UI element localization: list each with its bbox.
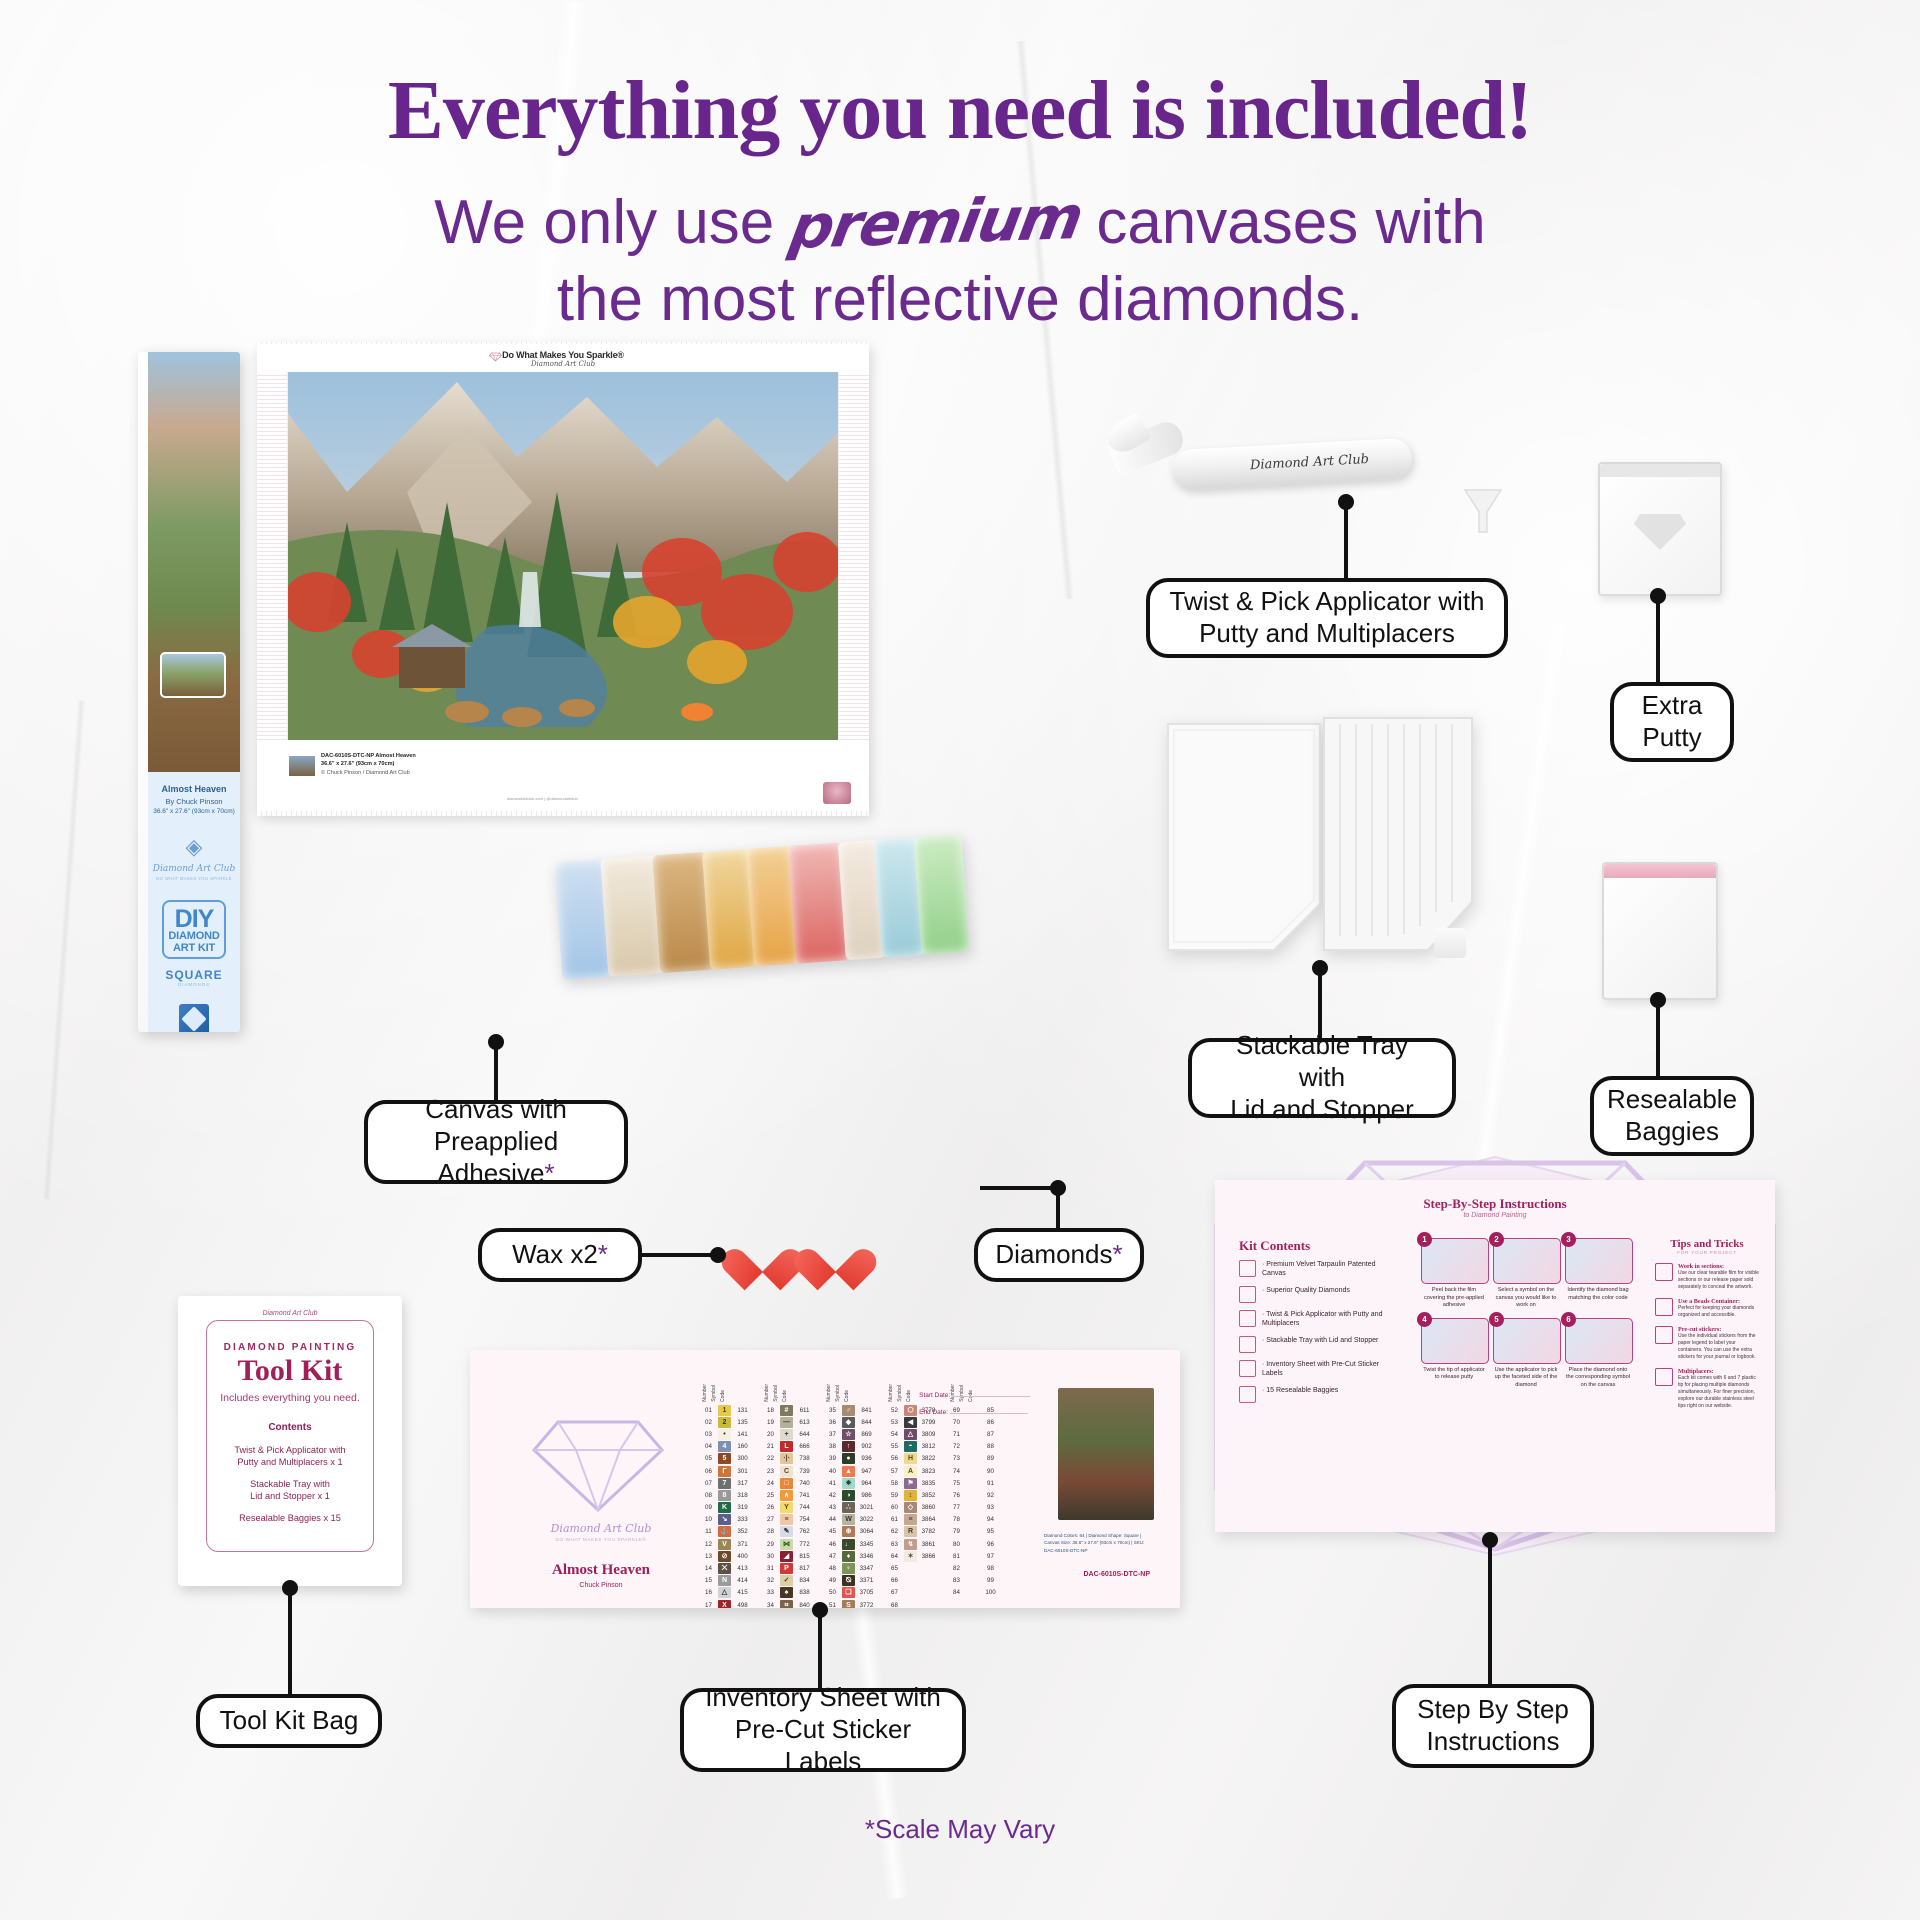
inventory-row: 29⋈772	[764, 1538, 813, 1550]
inventory-symbol-swatch[interactable]: ⌗	[780, 1600, 793, 1608]
inventory-number: 46	[826, 1541, 839, 1548]
inventory-symbol-swatch[interactable]	[966, 1466, 979, 1477]
inventory-header-cell: Code	[782, 1390, 788, 1402]
kit-item-label: · Inventory Sheet with Pre-Cut Sticker L…	[1262, 1360, 1399, 1379]
inventory-number: 31	[764, 1565, 777, 1572]
tool-kit-tagline: Includes everything you need.	[178, 1392, 402, 1404]
inventory-row: 8298	[950, 1562, 999, 1574]
inventory-row: 044160	[702, 1441, 751, 1453]
inventory-row: 11⚓352	[702, 1526, 751, 1538]
callout-dot	[1312, 960, 1328, 976]
callout-inventory-line2: Pre-Cut Sticker Labels	[702, 1714, 944, 1777]
inventory-row: 36◆844	[826, 1416, 875, 1428]
callout-inventory-sheet[interactable]: Inventory Sheet with Pre-Cut Sticker Lab…	[680, 1688, 966, 1772]
canvas-footer: DAC-6010S-DTC-NP Almost Heaven 36.6" x 2…	[257, 740, 869, 814]
inventory-row: 7793	[950, 1502, 999, 1514]
callout-leader	[818, 1608, 822, 1692]
inventory-symbol-swatch[interactable]: △	[904, 1429, 917, 1440]
inventory-number: 30	[764, 1553, 777, 1560]
inventory-row: 64✶3866	[888, 1550, 937, 1562]
inventory-number: 06	[702, 1468, 715, 1475]
step-text: Place the diamond onto the corresponding…	[1565, 1367, 1631, 1390]
tip-icon	[1655, 1263, 1673, 1281]
tip-item: Work in sections:Use our clear tearable …	[1655, 1263, 1759, 1291]
inventory-code: 3022	[858, 1516, 875, 1523]
inventory-row: 35♂841	[826, 1404, 875, 1416]
tips-section: Tips and Tricks FOR YOUR PROJECT Work in…	[1655, 1238, 1759, 1417]
inventory-number: 03	[702, 1431, 715, 1438]
callout-dot	[1050, 1180, 1066, 1196]
inventory-code: 90	[982, 1468, 999, 1475]
inventory-row: 011131	[702, 1404, 751, 1416]
inventory-row: 49⦰3371	[826, 1575, 875, 1587]
inventory-row: 18#611	[764, 1404, 813, 1416]
inventory-symbol-swatch[interactable]: ◇	[904, 1502, 917, 1513]
inventory-symbol-swatch[interactable]	[966, 1502, 979, 1513]
inventory-symbol-swatch[interactable]: W	[842, 1514, 855, 1525]
inventory-symbol-swatch[interactable]	[904, 1600, 917, 1608]
inventory-number: 56	[888, 1455, 901, 1462]
tip-title: Multiplacers:	[1678, 1368, 1759, 1375]
inventory-symbol-swatch[interactable]	[966, 1453, 979, 1464]
inventory-code: 3064	[858, 1528, 875, 1535]
infographic-canvas: Everything you need is included! We only…	[0, 0, 1920, 1920]
inventory-row: 61≡3864	[888, 1514, 937, 1526]
inventory-symbol-swatch[interactable]: ⚓	[718, 1526, 731, 1537]
inventory-row: 28✎762	[764, 1526, 813, 1538]
inventory-row: 20+644	[764, 1428, 813, 1440]
inventory-code: 3371	[858, 1577, 875, 1584]
inventory-number: 81	[950, 1553, 963, 1560]
callout-applicator-line2: Putty and Multiplacers	[1199, 618, 1455, 650]
inventory-symbol-swatch[interactable]: H	[904, 1453, 917, 1464]
canvas-artwork	[287, 372, 839, 740]
inventory-number: 14	[702, 1565, 715, 1572]
inventory-number: 42	[826, 1492, 839, 1499]
step-number: 3	[1561, 1232, 1576, 1247]
inventory-number: 34	[764, 1602, 777, 1608]
box-brand-tagline: DO WHAT MAKES YOU SPARKLE	[148, 876, 240, 881]
inventory-row: 22⋅|⋅738	[764, 1453, 813, 1465]
box-kit-diy: DIY	[164, 908, 224, 931]
inventory-symbol-swatch[interactable]: ●	[842, 1453, 855, 1464]
callout-wax[interactable]: Wax x2*	[478, 1228, 642, 1282]
inventory-code: 964	[858, 1480, 875, 1487]
inventory-symbol-swatch[interactable]: ♂	[842, 1405, 855, 1416]
inventory-row: 26Y744	[764, 1502, 813, 1514]
inventory-symbol-swatch[interactable]: P	[780, 1563, 793, 1574]
inventory-dates[interactable]: Start Date: End Date:	[919, 1388, 1030, 1422]
inventory-symbol-swatch[interactable]: ✎	[780, 1526, 793, 1537]
inventory-symbol-swatch[interactable]: X	[718, 1600, 731, 1608]
diamond-bags[interactable]	[554, 834, 969, 980]
callout-tool-kit-bag[interactable]: Tool Kit Bag	[196, 1694, 382, 1748]
inventory-symbol-swatch[interactable]: ⬡	[904, 1405, 917, 1416]
inventory-code: 644	[796, 1431, 813, 1438]
inventory-row: 10↘333	[702, 1514, 751, 1526]
tip-icon	[1655, 1298, 1673, 1316]
kit-item-label: · Premium Velvet Tarpaulin Patented Canv…	[1262, 1260, 1399, 1279]
inventory-code: 300	[734, 1455, 751, 1462]
inventory-symbol-swatch[interactable]: ▲	[842, 1466, 855, 1477]
inventory-number: 68	[888, 1602, 901, 1608]
inventory-symbol-swatch[interactable]: +	[780, 1429, 793, 1440]
twist-pick-applicator[interactable]: Diamond Art Club	[1171, 438, 1413, 491]
inventory-symbol-swatch[interactable]: A	[904, 1466, 917, 1477]
inventory-code: 936	[858, 1455, 875, 1462]
inventory-symbol-swatch[interactable]	[904, 1575, 917, 1586]
callout-stackable-tray[interactable]: Stackable Tray with Lid and Stopper	[1188, 1038, 1456, 1118]
inventory-row: 8096	[950, 1538, 999, 1550]
inventory-number: 84	[950, 1589, 963, 1596]
inventory-row: 37☆869	[826, 1428, 875, 1440]
inventory-symbol-swatch[interactable]	[966, 1539, 979, 1550]
inventory-code: 333	[734, 1516, 751, 1523]
kit-item-label: · 15 Resealable Baggies	[1262, 1386, 1338, 1403]
inventory-symbol-swatch[interactable]: ⊕	[842, 1526, 855, 1537]
inventory-number: 76	[950, 1492, 963, 1499]
callout-canvas-line1: Canvas with	[425, 1094, 567, 1126]
inventory-header-cell: Number	[764, 1384, 770, 1402]
inventory-symbol-swatch[interactable]: K	[718, 1502, 731, 1513]
inventory-code: 3345	[858, 1541, 875, 1548]
inventory-symbol-swatch[interactable]: ⋅|⋅	[780, 1453, 793, 1464]
inventory-symbol-swatch[interactable]: ↘	[718, 1514, 731, 1525]
inventory-symbol-swatch[interactable]: ◀	[904, 1417, 917, 1428]
inventory-number: 49	[826, 1577, 839, 1584]
inventory-number: 54	[888, 1431, 901, 1438]
callout-canvas[interactable]: Canvas with Preapplied Adhesive*	[364, 1100, 628, 1184]
callout-leader	[980, 1186, 1060, 1190]
inventory-number: 27	[764, 1516, 777, 1523]
kit-item-icon	[1239, 1386, 1256, 1403]
canvas-footer-thumbnail	[289, 756, 315, 776]
tool-kit-bag[interactable]: Diamond Art Club DIAMOND PAINTING Tool K…	[178, 1296, 402, 1586]
inventory-row: 30◢815	[764, 1550, 813, 1562]
inventory-symbol-swatch[interactable]: 8	[718, 1490, 731, 1501]
inventory-number: 79	[950, 1528, 963, 1535]
inventory-number: 21	[764, 1443, 777, 1450]
stackable-tray-lid[interactable]	[1318, 712, 1478, 958]
instruction-step: 2Select a symbol on the canvas you would…	[1493, 1238, 1559, 1310]
inventory-number: 52	[888, 1407, 901, 1414]
inventory-code: 87	[982, 1431, 999, 1438]
inventory-number: 55	[888, 1443, 901, 1450]
inventory-number: 63	[888, 1541, 901, 1548]
inventory-symbol-swatch[interactable]	[966, 1429, 979, 1440]
step-illustration: 6	[1565, 1318, 1633, 1364]
step-illustration: 2	[1493, 1238, 1561, 1284]
inventory-sheet[interactable]: Diamond Art Club DO WHAT MAKES YOU SPARK…	[470, 1350, 1180, 1608]
inventory-code: 739	[796, 1468, 813, 1475]
inventory-number: 77	[950, 1504, 963, 1511]
tip-text: Use our clear tearable film for visible …	[1678, 1270, 1759, 1291]
instructions-subtitle: to Diamond Painting	[1215, 1212, 1775, 1219]
inventory-code: 611	[796, 1407, 813, 1414]
inventory-number: 18	[764, 1407, 777, 1414]
inventory-symbol-swatch[interactable]: ◆	[842, 1417, 855, 1428]
inventory-number: 74	[950, 1468, 963, 1475]
inventory-code: 754	[796, 1516, 813, 1523]
inventory-code: 371	[734, 1541, 751, 1548]
inventory-code: 98	[982, 1565, 999, 1572]
inventory-symbol-swatch[interactable]: Γ	[718, 1466, 731, 1477]
inventory-symbol-swatch[interactable]: ♠	[780, 1587, 793, 1598]
inventory-symbol-swatch[interactable]: R	[904, 1526, 917, 1537]
inventory-symbol-swatch[interactable]: ∴	[842, 1502, 855, 1513]
inventory-artwork-thumbnail	[1058, 1388, 1154, 1520]
inventory-symbol-swatch[interactable]: C	[780, 1466, 793, 1477]
baggie-zip-seal	[1604, 864, 1716, 878]
inventory-row: 39●936	[826, 1453, 875, 1465]
kit-contents-item: · 15 Resealable Baggies	[1239, 1386, 1399, 1403]
inventory-symbol-swatch[interactable]: ⊘	[718, 1551, 731, 1562]
tip-text: Each kit comes with 6 and 7 plastic tip …	[1678, 1375, 1759, 1410]
inventory-symbol-swatch[interactable]	[966, 1478, 979, 1489]
canvas-legend-right	[838, 372, 869, 740]
inventory-number: 25	[764, 1492, 777, 1499]
inventory-number: 39	[826, 1455, 839, 1462]
inventory-symbol-swatch[interactable]: ≡	[904, 1514, 917, 1525]
inventory-symbol-swatch[interactable]	[966, 1490, 979, 1501]
inventory-row: 63↯3861	[888, 1538, 937, 1550]
inventory-symbol-swatch[interactable]: ⨉	[718, 1563, 731, 1574]
inventory-row: 43∴3021	[826, 1502, 875, 1514]
diamond-painting-canvas[interactable]: Do What Makes You Sparkle® Diamond Art C…	[257, 344, 869, 814]
inventory-symbol-swatch[interactable]: V	[718, 1539, 731, 1550]
inventory-symbol-swatch[interactable]: ↕	[904, 1490, 917, 1501]
canvas-footer-size: 36.6" x 27.6" (93cm x 70cm)	[321, 760, 416, 768]
inventory-column-headers: NumberSymbolCode	[826, 1372, 875, 1402]
step-by-step-instructions[interactable]: Step-By-Step Instructions to Diamond Pai…	[1215, 1180, 1775, 1532]
inventory-code: 89	[982, 1455, 999, 1462]
inventory-symbol-swatch[interactable]: ✶	[904, 1551, 917, 1562]
inventory-row: 7894	[950, 1514, 999, 1526]
inventory-code: 738	[796, 1455, 813, 1462]
inventory-code: 91	[982, 1480, 999, 1487]
callout-canvas-line2: Preapplied Adhesive*	[386, 1126, 606, 1189]
inventory-number: 29	[764, 1541, 777, 1548]
extra-putty-baggie[interactable]	[1598, 462, 1722, 596]
inventory-row: 34⌗840	[764, 1599, 813, 1608]
inventory-symbol-swatch[interactable]: ☆	[842, 1429, 855, 1440]
inventory-symbol-swatch[interactable]	[966, 1563, 979, 1574]
inventory-symbol-swatch[interactable]	[966, 1441, 979, 1452]
inventory-row: 022135	[702, 1416, 751, 1428]
inventory-symbol-swatch[interactable]: ✸	[842, 1478, 855, 1489]
step-illustration: 1	[1421, 1238, 1489, 1284]
inventory-symbol-swatch[interactable]: ↯	[904, 1539, 917, 1550]
inventory-code: 3823	[920, 1468, 937, 1475]
inventory-symbol-swatch[interactable]: L	[780, 1441, 793, 1452]
callout-applicator[interactable]: Twist & Pick Applicator with Putty and M…	[1146, 578, 1508, 658]
inventory-code: 95	[982, 1528, 999, 1535]
inventory-code: 100	[982, 1589, 999, 1596]
inventory-number: 72	[950, 1443, 963, 1450]
inventory-code: 3809	[920, 1431, 937, 1438]
inventory-code: 131	[734, 1407, 751, 1414]
inventory-header-cell: Symbol	[711, 1385, 717, 1402]
inventory-row: 088318	[702, 1489, 751, 1501]
inventory-symbol-swatch[interactable]	[966, 1575, 979, 1586]
inventory-row: 32✓834	[764, 1575, 813, 1587]
kit-contents-section: Kit Contents · Premium Velvet Tarpaulin …	[1239, 1238, 1399, 1410]
inventory-symbol-swatch[interactable]	[904, 1563, 917, 1574]
inventory-row: 077317	[702, 1477, 751, 1489]
artwork-illustration	[287, 372, 839, 740]
inventory-number: 47	[826, 1553, 839, 1560]
tool-kit-title: Tool Kit	[178, 1354, 402, 1388]
tip-item: Use a Beads Container:Perfect for keepin…	[1655, 1298, 1759, 1319]
inventory-row: 54△3809	[888, 1428, 937, 1440]
inventory-row: 17X498	[702, 1599, 751, 1608]
inventory-symbol-swatch[interactable]: ✓	[780, 1575, 793, 1586]
kit-item-label: · Superior Quality Diamonds	[1262, 1286, 1350, 1303]
inventory-code: 844	[858, 1419, 875, 1426]
inventory-header-cell: Code	[720, 1390, 726, 1402]
inventory-row: 12V371	[702, 1538, 751, 1550]
callout-resealable-baggies[interactable]: Resealable Baggies	[1590, 1076, 1754, 1156]
callout-leader	[1656, 998, 1660, 1078]
inventory-number: 43	[826, 1504, 839, 1511]
inventory-row: 23C739	[764, 1465, 813, 1477]
instruction-step: 3Identify the diamond bag matching the c…	[1565, 1238, 1631, 1310]
instruction-step: 4Twist the tip of applicator to release …	[1421, 1318, 1487, 1390]
inventory-code: 3772	[858, 1602, 875, 1608]
inventory-symbol-swatch[interactable]: ↑	[842, 1441, 855, 1452]
inventory-code: 88	[982, 1443, 999, 1450]
instruction-step: 6Place the diamond onto the correspondin…	[1565, 1318, 1631, 1390]
box-brand: Diamond Art Club	[148, 864, 240, 874]
inventory-code: 947	[858, 1468, 875, 1475]
inventory-code: 3347	[858, 1565, 875, 1572]
callout-step-instructions[interactable]: Step By Step Instructions	[1392, 1684, 1594, 1768]
callout-baggies-line1: Resealable	[1607, 1084, 1737, 1116]
inventory-code: 613	[796, 1419, 813, 1426]
inventory-symbol-swatch[interactable]: •	[718, 1429, 731, 1440]
inventory-row: 15N414	[702, 1575, 751, 1587]
gem-icon	[179, 1004, 209, 1032]
inventory-code: 94	[982, 1516, 999, 1523]
multiplacer-icon	[1455, 482, 1511, 538]
inventory-symbol-swatch[interactable]: 7	[718, 1478, 731, 1489]
inventory-symbol-swatch[interactable]: ❑	[842, 1587, 855, 1598]
inventory-row: 21L666	[764, 1441, 813, 1453]
box-artwork	[148, 352, 240, 772]
kit-item-icon	[1239, 1360, 1256, 1377]
callout-extra-putty[interactable]: Extra Putty	[1610, 682, 1734, 762]
inventory-symbol-swatch[interactable]	[966, 1526, 979, 1537]
subtitle-line-1: We only use premium canvases with	[0, 186, 1920, 259]
scale-footnote: *Scale May Vary	[0, 1814, 1920, 1845]
inventory-row: 7692	[950, 1489, 999, 1501]
inventory-symbol-swatch[interactable]: ◢	[780, 1551, 793, 1562]
instruction-step: 1Peel back the film covering the pre-app…	[1421, 1238, 1487, 1310]
resealable-baggie[interactable]	[1602, 862, 1718, 1000]
inventory-symbol-swatch[interactable]: 1	[718, 1405, 731, 1416]
inventory-header-cell: Number	[826, 1384, 832, 1402]
inventory-number: 12	[702, 1541, 715, 1548]
inventory-symbol-swatch[interactable]	[966, 1587, 979, 1598]
inventory-number: 75	[950, 1480, 963, 1487]
inventory-symbol-swatch[interactable]: 4	[718, 1441, 731, 1452]
inventory-code: 3822	[920, 1455, 937, 1462]
inventory-number: 28	[764, 1528, 777, 1535]
inventory-symbol-swatch[interactable]: 2	[718, 1417, 731, 1428]
inventory-symbol-swatch[interactable]: ≡	[780, 1514, 793, 1525]
inventory-symbol-swatch[interactable]	[966, 1514, 979, 1525]
inventory-number: 59	[888, 1492, 901, 1499]
canvas-footer-small: diamondartclub.com | @diamondartclub	[507, 796, 578, 802]
inventory-number: 33	[764, 1589, 777, 1596]
inventory-code: 400	[734, 1553, 751, 1560]
inventory-symbol-swatch[interactable]: ⋈	[780, 1539, 793, 1550]
inventory-number: 11	[702, 1528, 715, 1535]
inventory-number: 20	[764, 1431, 777, 1438]
inventory-row: 19—613	[764, 1416, 813, 1428]
inventory-symbol-swatch[interactable]: ⚑	[904, 1478, 917, 1489]
step-number: 6	[1561, 1312, 1576, 1327]
inventory-symbol-swatch[interactable]: N	[718, 1575, 731, 1586]
inventory-symbol-swatch[interactable]: ♩	[842, 1539, 855, 1550]
inventory-row: 55◓3812	[888, 1441, 937, 1453]
inventory-symbol-swatch[interactable]: □	[780, 1478, 793, 1489]
inventory-number: 08	[702, 1492, 715, 1499]
inventory-symbol-swatch[interactable]: —	[780, 1417, 793, 1428]
product-box[interactable]: Almost Heaven By Chuck Pinson 36.6" x 27…	[138, 352, 240, 1032]
inventory-symbol-swatch[interactable]: ♦	[842, 1551, 855, 1562]
step-text: Select a symbol on the canvas you would …	[1493, 1287, 1559, 1310]
inventory-row: 51S3772	[826, 1599, 875, 1608]
box-title: Almost Heaven	[148, 784, 240, 794]
inventory-symbol-swatch[interactable]: ⦰	[842, 1575, 855, 1586]
stackable-tray[interactable]	[1160, 718, 1328, 958]
inventory-symbol-swatch[interactable]: ∧	[780, 1490, 793, 1501]
tip-icon	[1655, 1368, 1673, 1386]
inventory-symbol-swatch[interactable]: Y	[780, 1502, 793, 1513]
inventory-row: 7187	[950, 1428, 999, 1440]
end-date-label: End Date:	[919, 1409, 948, 1416]
inventory-number: 32	[764, 1577, 777, 1584]
inventory-number: 48	[826, 1565, 839, 1572]
inventory-symbol-swatch[interactable]: 5	[718, 1453, 731, 1464]
inventory-number: 51	[826, 1602, 839, 1608]
inventory-code: 93	[982, 1504, 999, 1511]
inventory-number: 40	[826, 1468, 839, 1475]
inventory-symbol-swatch[interactable]	[904, 1587, 917, 1598]
inventory-symbol-swatch[interactable]: ◑	[842, 1490, 855, 1501]
inventory-symbol-swatch[interactable]: ♀	[842, 1563, 855, 1574]
tool-kit-item: Lid and Stopper x 1	[178, 1490, 402, 1504]
kit-contents-item: · Premium Velvet Tarpaulin Patented Canv…	[1239, 1260, 1399, 1279]
inventory-symbol-swatch[interactable]	[966, 1551, 979, 1562]
start-date-line[interactable]	[952, 1396, 1030, 1397]
inventory-symbol-swatch[interactable]: #	[780, 1405, 793, 1416]
inventory-symbol-swatch[interactable]: ◓	[904, 1441, 917, 1452]
inventory-code: 318	[734, 1492, 751, 1499]
inventory-number: 58	[888, 1480, 901, 1487]
tip-title: Work in sections:	[1678, 1263, 1759, 1270]
callout-diamonds[interactable]: Diamonds*	[974, 1228, 1144, 1282]
inventory-code: 841	[858, 1407, 875, 1414]
inventory-symbol-swatch[interactable]: S	[842, 1600, 855, 1608]
step-number: 1	[1417, 1232, 1432, 1247]
inventory-symbol-swatch[interactable]: △	[718, 1587, 731, 1598]
inventory-column: NumberSymbolCode18#61119—61320+64421L666…	[764, 1372, 813, 1608]
canvas-footer-credit: © Chuck Pinson / Diamond Art Club	[321, 769, 416, 777]
end-date-line[interactable]	[950, 1413, 1028, 1414]
inventory-number: 41	[826, 1480, 839, 1487]
